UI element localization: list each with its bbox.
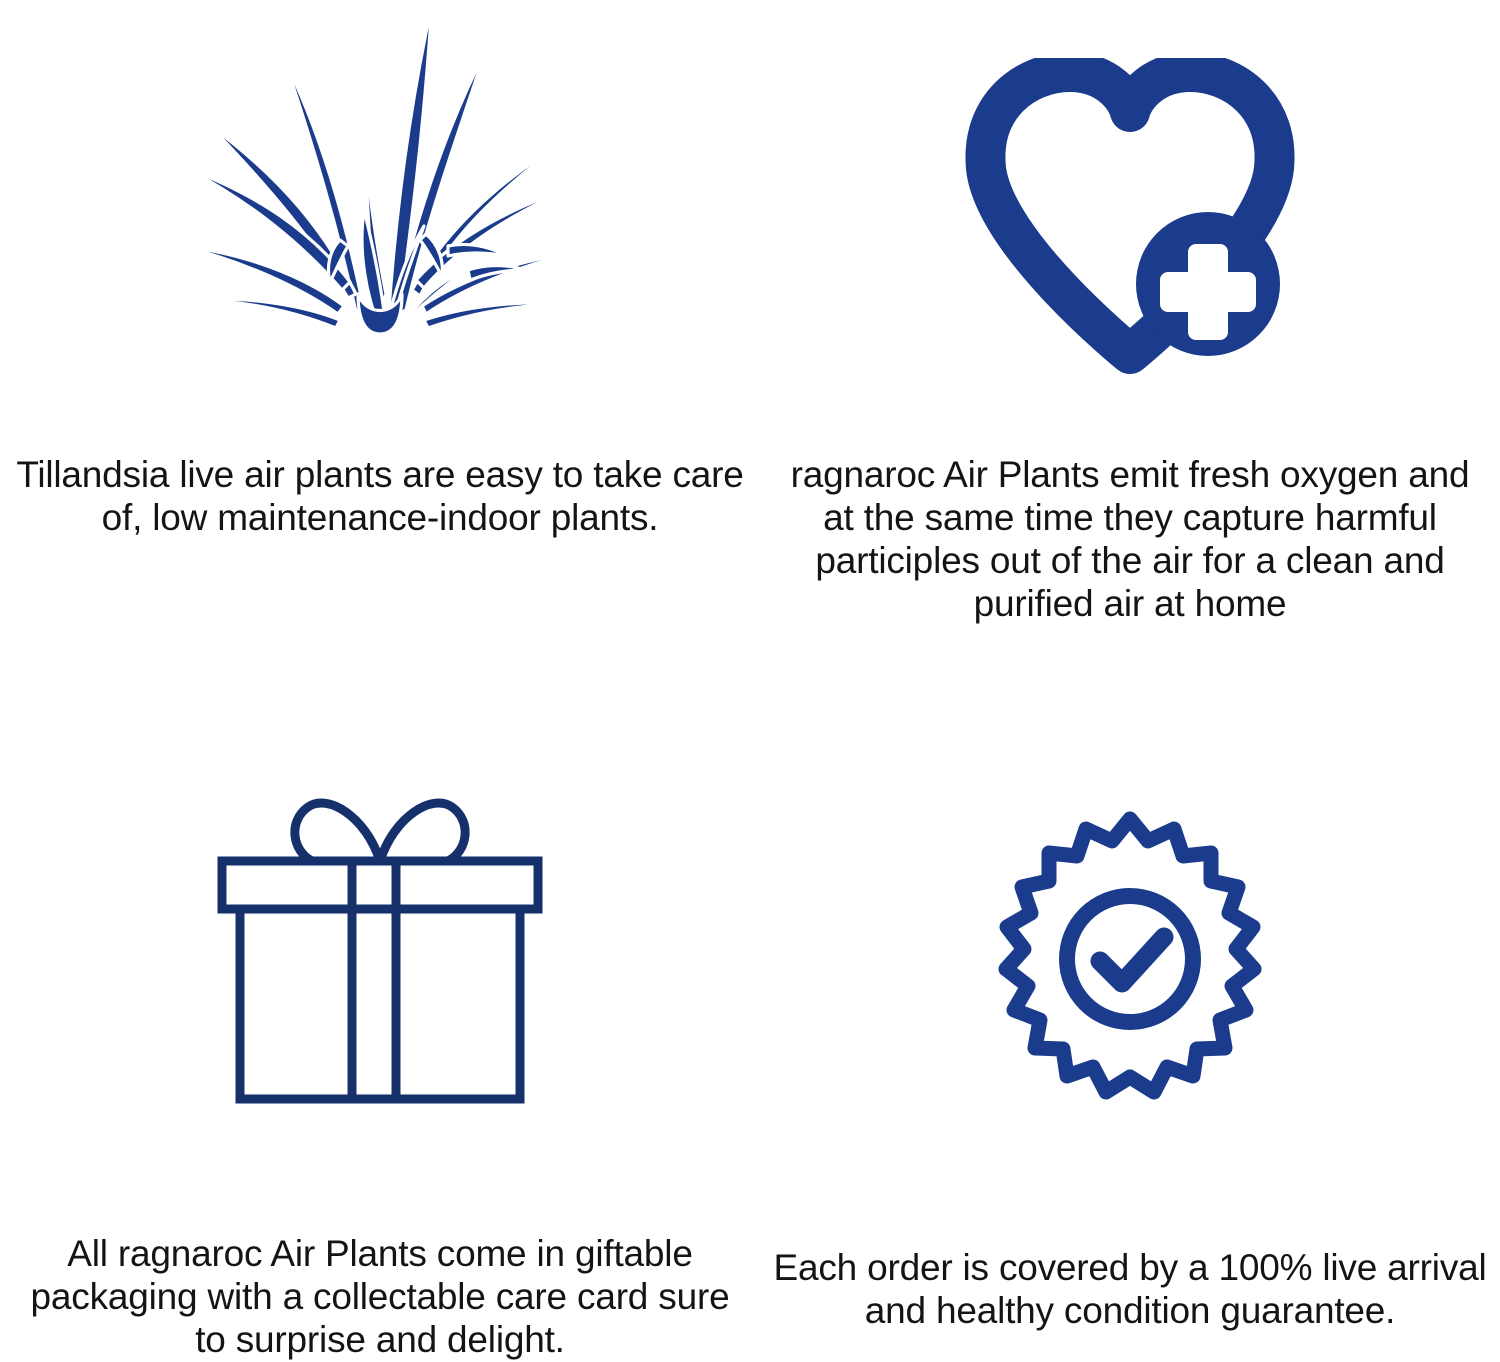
gift-body — [240, 909, 520, 1099]
heart-plus-icon-wrap — [760, 0, 1500, 436]
bow-loop-left — [295, 803, 380, 861]
badge-starburst — [1006, 819, 1254, 1092]
feature-cell-gift: All ragnaroc Air Plants come in giftable… — [0, 681, 760, 1362]
heart-plus-icon — [960, 58, 1300, 378]
gift-lid — [222, 861, 538, 909]
feature-caption-gift: All ragnaroc Air Plants come in giftable… — [0, 1233, 760, 1362]
feature-cell-guarantee: Each order is covered by a 100% live arr… — [760, 681, 1500, 1362]
verified-badge-icon-wrap — [760, 681, 1500, 1241]
air-plant-icon-wrap — [0, 0, 760, 436]
badge-circle — [1067, 896, 1193, 1022]
verified-badge-icon — [980, 811, 1280, 1111]
feature-caption-heart-plus: ragnaroc Air Plants emit fresh oxygen an… — [760, 454, 1500, 626]
feature-caption-guarantee: Each order is covered by a 100% live arr… — [760, 1247, 1500, 1333]
feature-cell-air-plant: Tillandsia live air plants are easy to t… — [0, 0, 760, 681]
feature-cell-heart-plus: ragnaroc Air Plants emit fresh oxygen an… — [760, 0, 1500, 681]
check-icon — [1100, 937, 1164, 983]
bow-loop-right — [380, 803, 465, 861]
feature-grid: Tillandsia live air plants are easy to t… — [0, 0, 1500, 1362]
air-plant-icon — [180, 0, 580, 334]
feature-caption-air-plant: Tillandsia live air plants are easy to t… — [0, 454, 760, 540]
gift-box-icon-wrap — [0, 681, 760, 1227]
gift-box-icon — [200, 789, 560, 1119]
